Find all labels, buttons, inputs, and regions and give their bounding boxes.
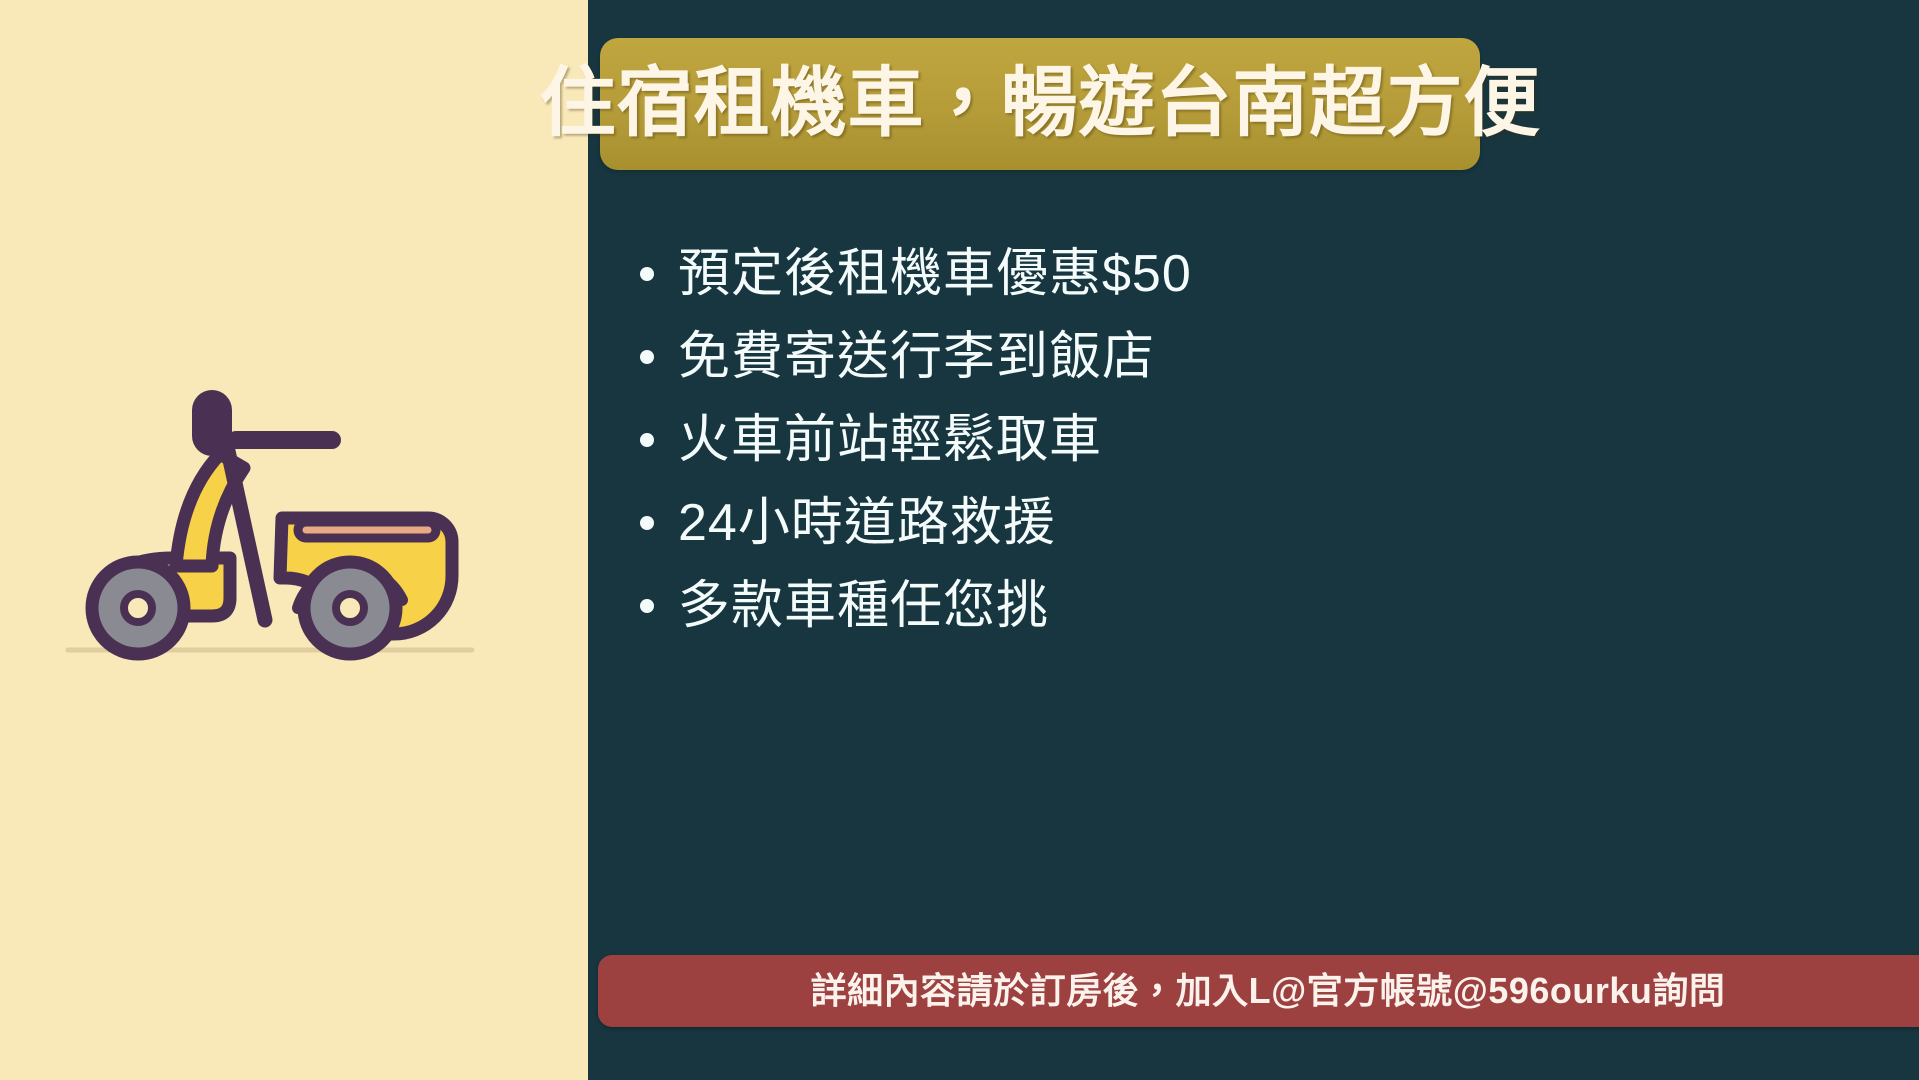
list-item-label: 24小時道路救援: [678, 497, 1056, 549]
list-item-label: 免費寄送行李到飯店: [678, 331, 1155, 383]
scooter-icon: [60, 370, 480, 670]
feature-list: 預定後租機車優惠$50 免費寄送行李到飯店 火車前站輕鬆取車 24小時道路救援 …: [630, 232, 1870, 647]
page-title: 住宿租機車，暢遊台南超方便: [540, 66, 1541, 142]
bullet-dot-icon: [640, 433, 654, 447]
left-illustration-panel: [0, 0, 588, 1080]
bullet-dot-icon: [640, 599, 654, 613]
bullet-dot-icon: [640, 267, 654, 281]
list-item: 火車前站輕鬆取車: [630, 398, 1870, 481]
title-banner: 住宿租機車，暢遊台南超方便: [600, 38, 1480, 170]
bullet-dot-icon: [640, 350, 654, 364]
list-item: 免費寄送行李到飯店: [630, 315, 1870, 398]
list-item-label: 火車前站輕鬆取車: [678, 414, 1102, 466]
list-item-label: 預定後租機車優惠$50: [678, 248, 1192, 300]
bullet-dot-icon: [640, 516, 654, 530]
footer-notice-banner: 詳細內容請於訂房後，加入L@官方帳號@596ourku詢問: [598, 955, 1919, 1027]
list-item: 多款車種任您挑: [630, 564, 1870, 647]
right-content-panel: 住宿租機車，暢遊台南超方便 預定後租機車優惠$50 免費寄送行李到飯店 火車前站…: [588, 0, 1919, 1080]
promo-slide: 住宿租機車，暢遊台南超方便 預定後租機車優惠$50 免費寄送行李到飯店 火車前站…: [0, 0, 1919, 1080]
list-item: 預定後租機車優惠$50: [630, 232, 1870, 315]
list-item: 24小時道路救援: [630, 481, 1870, 564]
list-item-label: 多款車種任您挑: [678, 580, 1049, 632]
footer-notice-text: 詳細內容請於訂房後，加入L@官方帳號@596ourku詢問: [811, 973, 1726, 1009]
